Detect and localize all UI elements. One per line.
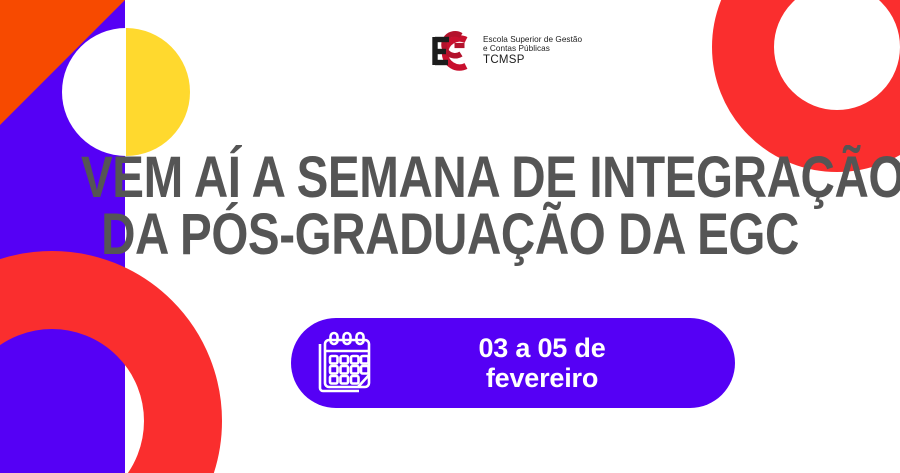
institution-logo: Escola Superior de Gestão e Contas Públi…: [428, 28, 582, 74]
headline-line-2: DA PÓS-GRADUAÇÃO DA EGC: [81, 207, 819, 264]
headline: VEM AÍ A SEMANA DE INTEGRAÇÃO DA PÓS-GRA…: [81, 150, 819, 264]
logo-text-block: Escola Superior de Gestão e Contas Públi…: [483, 35, 582, 67]
date-pill: 03 a 05 de fevereiro: [291, 318, 735, 408]
logo-acronym: TCMSP: [483, 54, 582, 67]
headline-line-1: VEM AÍ A SEMANA DE INTEGRAÇÃO: [81, 150, 819, 207]
calendar-icon: [313, 330, 375, 396]
red-arc-bottom-left-shape: [0, 251, 222, 473]
date-text: 03 a 05 de fevereiro: [375, 333, 735, 393]
half-circle-yellow-shape: [126, 28, 190, 156]
date-line-2: fevereiro: [375, 363, 709, 393]
egc-monogram-icon: [428, 28, 476, 74]
event-banner: Escola Superior de Gestão e Contas Públi…: [0, 0, 900, 473]
half-circle-white-shape: [62, 28, 126, 156]
logo-line-1: Escola Superior de Gestão: [483, 35, 582, 44]
date-line-1: 03 a 05 de: [375, 333, 709, 363]
logo-line-2: e Contas Públicas: [483, 44, 582, 53]
split-circle-shape: [62, 28, 190, 156]
